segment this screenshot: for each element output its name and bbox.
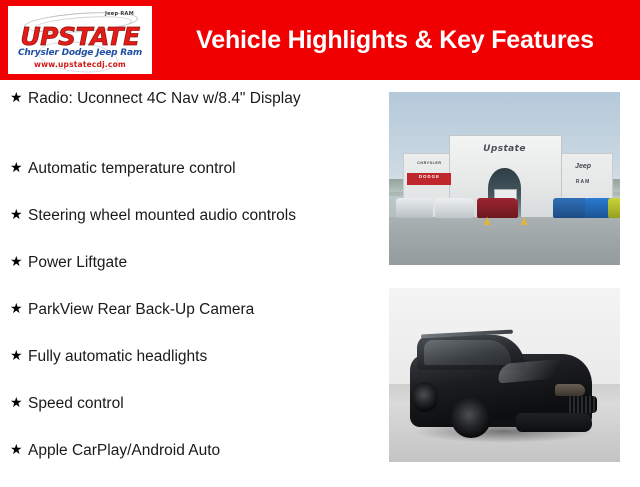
star-bullet-icon: ★ [10, 158, 28, 179]
parking-lot [389, 217, 620, 265]
page-title: Vehicle Highlights & Key Features [160, 0, 630, 80]
star-bullet-icon: ★ [10, 205, 28, 226]
lot-vehicle [396, 198, 433, 219]
sign-ram: RAM [562, 179, 604, 185]
feature-text: ParkView Rear Back-Up Camera [28, 299, 308, 320]
star-bullet-icon: ★ [10, 346, 28, 367]
page-header: Jeep RAM UPSTATE Chrysler Dodge Jeep Ram… [0, 0, 640, 80]
feature-text: Power Liftgate [28, 252, 308, 273]
star-bullet-icon: ★ [10, 252, 28, 273]
dealer-logo[interactable]: Jeep RAM UPSTATE Chrysler Dodge Jeep Ram… [8, 6, 152, 74]
star-bullet-icon: ★ [10, 393, 28, 414]
feature-list: ★ Radio: Uconnect 4C Nav w/8.4" Display … [0, 88, 380, 487]
list-item: ★ Fully automatic headlights [0, 346, 380, 393]
list-item: ★ Radio: Uconnect 4C Nav w/8.4" Display [0, 88, 380, 158]
feature-text: Apple CarPlay/Android Auto [28, 440, 308, 461]
vehicle-rear-wheel [412, 382, 437, 412]
vehicle-front-wheel [451, 398, 490, 438]
feature-text: Radio: Uconnect 4C Nav w/8.4" Display [28, 88, 308, 109]
vehicle-grille [569, 396, 597, 413]
list-item: ★ ParkView Rear Back-Up Camera [0, 299, 380, 346]
lot-vehicle [435, 198, 474, 219]
vehicle-front-bumper [516, 413, 592, 432]
feature-text: Steering wheel mounted audio controls [28, 205, 308, 226]
sign-chrysler: CHRYSLER [410, 161, 449, 165]
star-bullet-icon: ★ [10, 440, 28, 461]
star-bullet-icon: ★ [10, 88, 28, 109]
sign-jeep: Jeep [562, 163, 604, 170]
lot-vehicle [608, 198, 620, 219]
list-item: ★ Automatic temperature control [0, 158, 380, 205]
logo-brand-subline: Chrysler Dodge Jeep Ram [8, 48, 152, 58]
lot-vehicle [477, 198, 519, 219]
logo-wordmark: UPSTATE [8, 24, 152, 49]
vehicle-glass [424, 340, 512, 364]
feature-text: Speed control [28, 393, 308, 414]
sign-dodge: DODGE [407, 173, 451, 185]
feature-text: Automatic temperature control [28, 158, 308, 179]
logo-website-url: www.upstatecdj.com [8, 60, 152, 69]
list-item: ★ Steering wheel mounted audio controls [0, 205, 380, 252]
vehicle-headlight [555, 384, 585, 396]
logo-top-brands: Jeep RAM [64, 11, 134, 17]
dealership-photo[interactable]: Upstate CHRYSLER DODGE Jeep RAM [389, 92, 620, 265]
sign-upstate: Upstate [472, 144, 537, 154]
feature-text: Fully automatic headlights [28, 346, 308, 367]
star-bullet-icon: ★ [10, 299, 28, 320]
vehicle-photo[interactable] [389, 288, 620, 462]
list-item: ★ Power Liftgate [0, 252, 380, 299]
list-item: ★ Speed control [0, 393, 380, 440]
